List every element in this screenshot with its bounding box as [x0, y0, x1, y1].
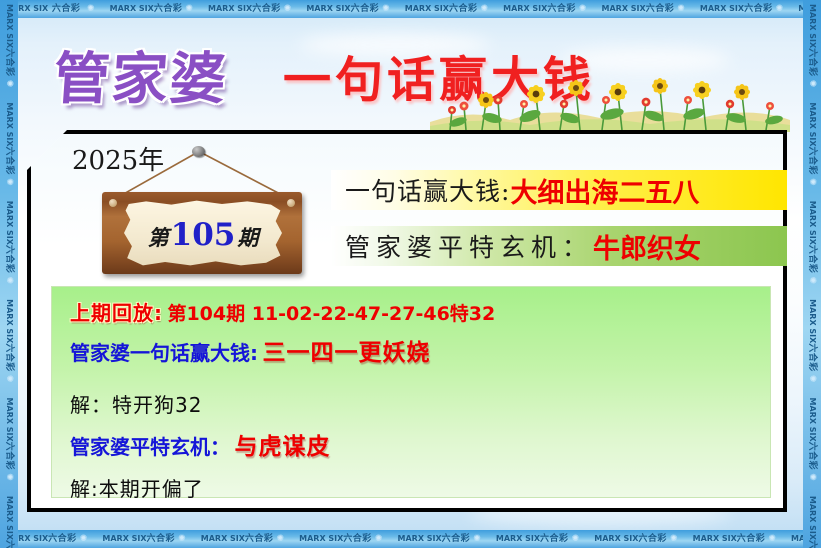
marquee-separator-icon: ✺ [84, 4, 98, 14]
review-riddle-answer-text: 解:本期开偏了 [70, 477, 204, 501]
review-riddle-value: 与虎谋皮 [234, 434, 330, 460]
page-header: 管家婆 一句话赢大钱 [18, 18, 803, 130]
sign-paper-surface: 第105期 [124, 200, 282, 266]
marquee-text-cn: 六合彩 [52, 4, 81, 14]
site-logo-subtitle: 一句话赢大钱 [283, 40, 595, 110]
banner-riddle-value: 牛郎织女 [593, 227, 701, 266]
review-phrase-label: 管家婆一句话赢大钱: [70, 341, 258, 365]
issue-number: 105 [169, 217, 238, 253]
banner-riddle-label: 管家婆平特玄机： [345, 228, 593, 264]
hanging-issue-sign: 第105期 [86, 146, 316, 286]
border-strip-bottom: MARX SIX六合彩✺ MARX SIX六合彩✺ MARX SIX六合彩✺ M… [0, 530, 821, 548]
border-strip-left: MARX SIX六合彩✺ MARX SIX六合彩✺ MARX SIX六合彩✺ M… [0, 0, 18, 548]
banner-riddle-row: 管家婆平特玄机： 牛郎织女 [331, 226, 787, 266]
review-phrase-value: 三一四一更妖娆 [262, 340, 430, 366]
issue-suffix: 期 [237, 225, 258, 250]
review-phrase-line: 管家婆一句话赢大钱: 三一四一更妖娆 [70, 342, 770, 365]
issue-number-text: 第105期 [148, 220, 259, 251]
banner-phrase-value: 大细出海二五八 [510, 171, 699, 210]
sign-nail-icon [192, 146, 205, 157]
border-strip-top: MARX SIX 六合彩 ✺ MARX SIX六合彩✺ MARX SIX六合彩✺… [0, 0, 821, 18]
review-issue-numbers: 第104期 11-02-22-47-27-46特32 [167, 303, 495, 325]
review-phrase-answer-text: 解：特开狗32 [70, 393, 202, 417]
review-issue-line: 上期回放: 第104期 11-02-22-47-27-46特32 [70, 303, 770, 324]
issue-prefix: 第 [148, 225, 169, 250]
review-riddle-line: 管家婆平特玄机： 与虎谋皮 [70, 436, 770, 459]
border-strip-right: MARX SIX六合彩✺ MARX SIX六合彩✺ MARX SIX六合彩✺ M… [803, 0, 821, 548]
sign-wooden-board: 第105期 [102, 192, 302, 274]
banner-phrase-label: 一句话赢大钱: [345, 172, 510, 208]
review-tag-label: 上期回放: [70, 301, 163, 325]
banner-phrase-row: 一句话赢大钱: 大细出海二五八 [331, 170, 787, 210]
previous-results-box: 上期回放: 第104期 11-02-22-47-27-46特32 管家婆一句话赢… [51, 286, 771, 498]
review-riddle-label: 管家婆平特玄机： [70, 435, 230, 459]
review-phrase-answer: 解：特开狗32 [70, 395, 770, 416]
site-logo-title: 管家婆 [51, 34, 231, 115]
page-root: MARX SIX 六合彩 ✺ MARX SIX六合彩✺ MARX SIX六合彩✺… [0, 0, 821, 548]
review-riddle-answer: 解:本期开偏了 [70, 479, 770, 500]
